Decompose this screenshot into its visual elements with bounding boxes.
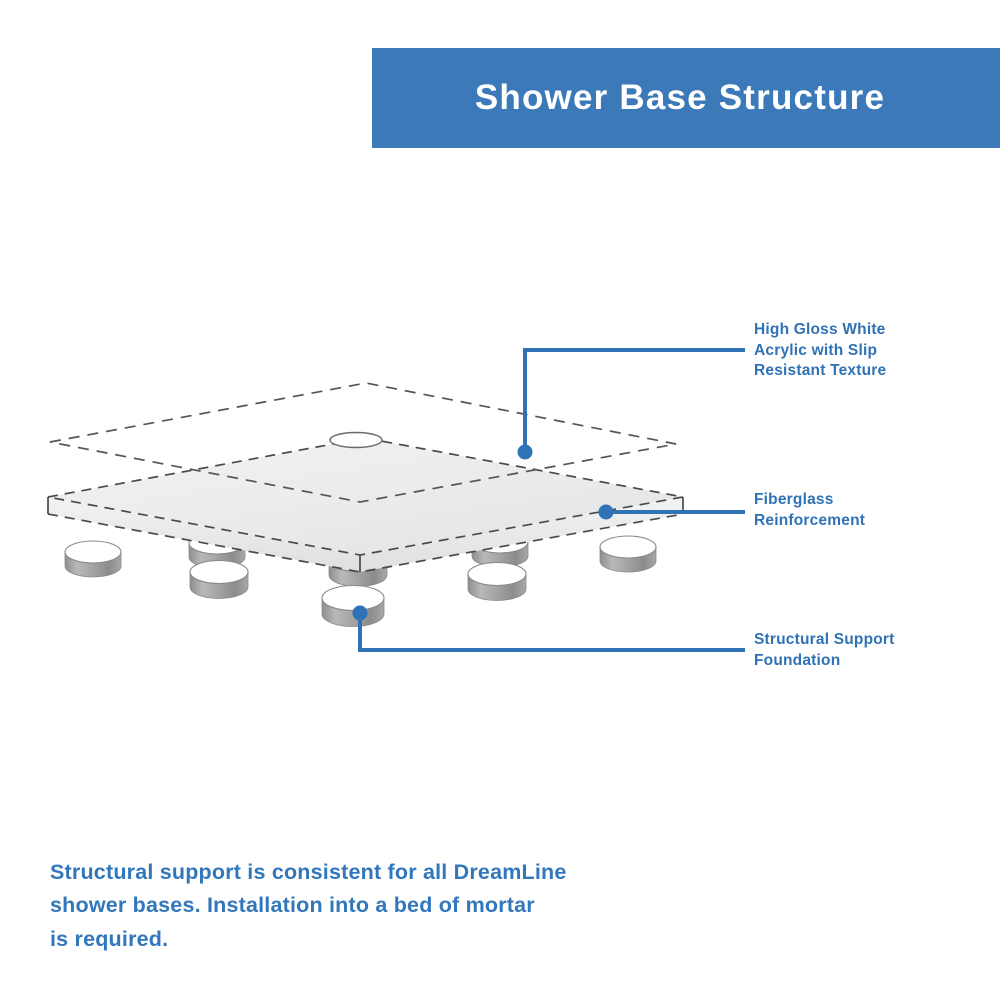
support-ring — [190, 561, 248, 599]
callout-dot-support — [353, 606, 368, 621]
callout-label-support: Structural Support Foundation — [754, 630, 984, 671]
callout-leaders — [353, 350, 746, 650]
callout-label-acrylic: High Gloss White Acrylic with Slip Resis… — [754, 320, 984, 382]
support-ring — [468, 563, 526, 601]
support-ring — [65, 541, 121, 577]
footer-note: Structural support is consistent for all… — [50, 856, 690, 956]
support-ring — [600, 536, 656, 572]
callout-label-fiberglass: Fiberglass Reinforcement — [754, 490, 984, 531]
support-ring — [189, 532, 245, 568]
support-ring-front — [322, 586, 384, 627]
support-ring — [329, 549, 387, 587]
acrylic-top-layer — [50, 383, 676, 502]
page-title: Shower Base Structure — [475, 78, 885, 118]
callout-dot-fiberglass — [599, 505, 614, 520]
diagram-canvas: Shower Base Structure — [0, 0, 1000, 1000]
fiberglass-slab-layer — [48, 438, 683, 572]
title-banner: Shower Base Structure — [372, 48, 1000, 148]
support-ring — [472, 531, 528, 567]
support-ring-group — [65, 531, 656, 627]
drain-opening — [330, 433, 382, 448]
callout-dot-acrylic — [518, 445, 533, 460]
